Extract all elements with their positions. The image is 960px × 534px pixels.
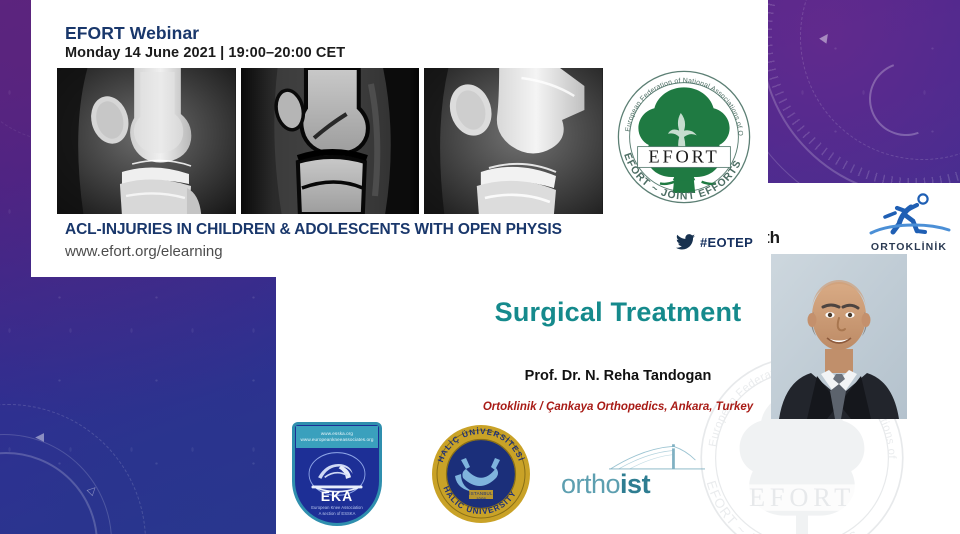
eka-url-band: www.esska.org www.europeankneeassociates… — [296, 426, 378, 448]
eotep-hashtag: #EOTEP — [676, 234, 753, 250]
banner-title: EFORT Webinar — [65, 23, 199, 44]
banner-headline: ACL-INJURIES IN CHILDREN & ADOLESCENTS W… — [65, 221, 562, 239]
eotep-label: #EOTEP — [700, 235, 753, 250]
knee-mri-sagittal — [241, 68, 420, 214]
efort-logo: EFORT European Federation of National As… — [604, 57, 764, 217]
slide-stage: ▲ ▲ △ EFORT European Federation of Natio… — [0, 0, 960, 534]
knee-xray-lateral-right — [424, 68, 603, 214]
ortoklinik-label: ORTOKLİNİK — [861, 241, 957, 253]
orthoist-logo: orthoist — [561, 442, 701, 504]
twitter-bird-icon — [676, 234, 695, 250]
orthoist-wordmark: orthoist — [561, 469, 650, 500]
svg-text:1998: 1998 — [476, 497, 486, 502]
orthoist-text-bold: ist — [620, 469, 650, 499]
efort-webinar-banner: EFORT Webinar Monday 14 June 2021 | 19:0… — [31, 0, 768, 277]
banner-subtitle: Monday 14 June 2021 | 19:00–20:00 CET — [65, 45, 345, 61]
halic-university-logo: İSTANBUL 1998 HALİÇ ÜNİVERSİTESİ HALIC U… — [431, 424, 531, 524]
eka-subtitle: European Knee Association A section of E… — [292, 505, 382, 516]
eka-wordmark: EKA — [292, 488, 382, 504]
page-title: Surgical Treatment — [276, 297, 960, 328]
sponsor-logo-row: www.esska.org www.europeankneeassociates… — [276, 412, 960, 530]
knee-image-strip — [57, 68, 603, 214]
speaker-name: Prof. Dr. N. Reha Tandogan — [276, 368, 960, 384]
banner-url: www.efort.org/elearning — [65, 243, 223, 260]
ortoklinik-logo: ORTOKLİNİK — [861, 191, 957, 253]
background-caret-bl: ▲ — [32, 430, 47, 445]
svg-text:İSTANBUL: İSTANBUL — [469, 491, 493, 496]
orthoist-text-light: ortho — [561, 469, 620, 499]
knee-xray-lateral-left — [57, 68, 236, 214]
eka-url-2: www.europeankneeassociates.org — [301, 437, 374, 443]
eka-logo: www.esska.org www.europeankneeassociates… — [292, 422, 382, 526]
running-figure-icon — [861, 191, 957, 239]
svg-text:EFORT: EFORT — [648, 147, 719, 167]
speaker-portrait-photo — [771, 254, 907, 419]
